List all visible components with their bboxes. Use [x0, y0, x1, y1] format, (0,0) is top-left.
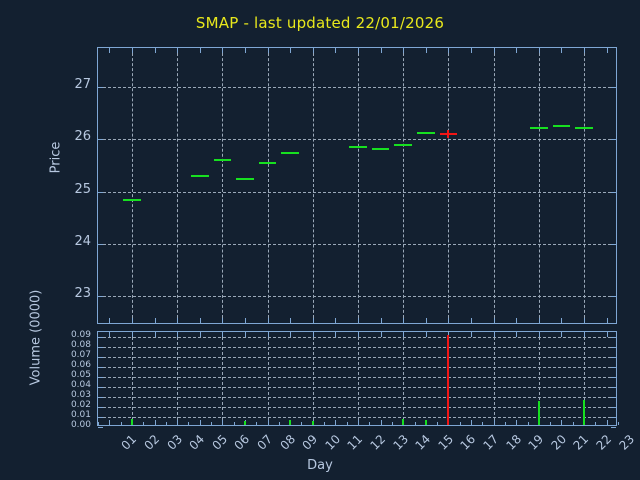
volume-gridline-v	[222, 332, 223, 425]
volume-gridline-v	[177, 332, 178, 425]
volume-tick-top	[539, 332, 540, 337]
volume-gridline-v	[358, 332, 359, 425]
volume-tick-minor	[460, 422, 461, 425]
volume-bar-15	[425, 420, 427, 425]
price-wick-16	[447, 130, 449, 138]
price-gridline-v	[403, 48, 404, 323]
volume-tick-minor	[347, 422, 348, 425]
volume-tick-left	[98, 407, 103, 408]
volume-tick-bot	[561, 420, 562, 425]
volume-bar-22	[583, 400, 585, 425]
day-tick-label: 17	[481, 432, 502, 453]
price-gridline-h	[98, 87, 616, 88]
price-tick-top	[200, 48, 201, 53]
day-tick-label: 10	[322, 432, 343, 453]
day-tick-label: 12	[367, 432, 388, 453]
price-tick-top	[268, 48, 269, 53]
price-tick-bot	[222, 318, 223, 323]
volume-tick-top	[290, 332, 291, 337]
volume-tick-left	[98, 397, 103, 398]
price-tick-top	[335, 48, 336, 53]
volume-tick-minor	[550, 422, 551, 425]
volume-tick-left	[98, 377, 103, 378]
volume-gridline-h	[98, 367, 616, 368]
volume-tick-minor	[595, 422, 596, 425]
price-tick-top	[403, 48, 404, 53]
volume-tick-top	[268, 332, 269, 337]
price-bar-13	[372, 148, 390, 150]
volume-tick-top	[177, 332, 178, 337]
price-tick-bot	[290, 318, 291, 323]
volume-tick-top	[561, 332, 562, 337]
price-bar-06	[214, 159, 232, 161]
volume-tick-minor	[166, 422, 167, 425]
volume-tick-right	[611, 367, 616, 368]
price-gridline-v	[132, 48, 133, 323]
volume-tick-top	[494, 332, 495, 337]
volume-tick-top	[358, 332, 359, 337]
price-bar-09	[281, 152, 299, 154]
price-gridline-v	[539, 48, 540, 323]
price-bar-02	[123, 199, 141, 201]
volume-tick-minor	[415, 422, 416, 425]
volume-tick-minor	[505, 422, 506, 425]
volume-gridline-h	[98, 357, 616, 358]
volume-tick-minor	[437, 422, 438, 425]
day-tick-label: 03	[164, 432, 185, 453]
volume-tick-right	[611, 407, 616, 408]
volume-tick-label: 0.09	[41, 330, 91, 340]
volume-gridline-v	[403, 332, 404, 425]
day-tick-label: 21	[571, 432, 592, 453]
volume-gridline-h	[98, 337, 616, 338]
volume-tick-bot	[381, 420, 382, 425]
volume-gridline-v	[494, 332, 495, 425]
price-bar-15	[417, 132, 435, 134]
price-tick-left	[98, 192, 103, 193]
day-tick-label: 15	[435, 432, 456, 453]
volume-tick-label: 0.07	[41, 350, 91, 360]
price-tick-bot	[200, 318, 201, 323]
price-gridline-v	[177, 48, 178, 323]
price-gridline-v	[268, 48, 269, 323]
day-tick-label: 11	[345, 432, 366, 453]
volume-tick-minor	[528, 422, 529, 425]
volume-tick-top	[200, 332, 201, 337]
volume-tick-top	[584, 332, 585, 337]
price-tick-bot	[358, 318, 359, 323]
price-tick-right	[611, 192, 616, 193]
day-tick-label: 22	[594, 432, 615, 453]
day-tick-label: 20	[548, 432, 569, 453]
price-tick-left	[98, 244, 103, 245]
price-tick-top	[222, 48, 223, 53]
day-tick-label: 06	[232, 432, 253, 453]
volume-tick-right	[611, 427, 616, 428]
volume-tick-bot	[177, 420, 178, 425]
price-gridline-v	[448, 48, 449, 323]
volume-gridline-h	[98, 397, 616, 398]
volume-tick-top	[313, 332, 314, 337]
day-tick-label: 02	[141, 432, 162, 453]
chart-canvas: SMAP - last updated 22/01/2026 Price Vol…	[0, 0, 640, 480]
volume-bar-09	[289, 420, 291, 425]
day-tick-label: 09	[300, 432, 321, 453]
price-tick-top	[381, 48, 382, 53]
day-tick-label: 13	[390, 432, 411, 453]
volume-tick-bot	[109, 420, 110, 425]
price-bar-22	[575, 127, 593, 129]
day-tick-label: 05	[209, 432, 230, 453]
volume-tick-label: 0.02	[41, 400, 91, 410]
price-gridline-h	[98, 296, 616, 297]
chart-title: SMAP - last updated 22/01/2026	[0, 14, 640, 32]
volume-tick-minor	[211, 422, 212, 425]
volume-tick-bot	[358, 420, 359, 425]
price-bar-08	[259, 162, 277, 164]
volume-bar-16	[447, 335, 449, 425]
volume-tick-label: 0.08	[41, 340, 91, 350]
price-gridline-h	[98, 244, 616, 245]
volume-tick-right	[611, 397, 616, 398]
x-axis-title: Day	[0, 458, 640, 473]
day-tick-label: 08	[277, 432, 298, 453]
price-tick-bot	[539, 318, 540, 323]
volume-tick-top	[607, 332, 608, 337]
day-tick-label: 01	[119, 432, 140, 453]
volume-tick-minor	[234, 422, 235, 425]
volume-tick-minor	[324, 422, 325, 425]
price-tick-bot	[584, 318, 585, 323]
volume-tick-left	[98, 337, 103, 338]
price-tick-top	[426, 48, 427, 53]
volume-tick-right	[611, 377, 616, 378]
day-tick-label: 23	[616, 432, 637, 453]
price-bar-05	[191, 175, 209, 177]
volume-tick-bot	[222, 420, 223, 425]
volume-tick-left	[98, 367, 103, 368]
price-tick-bot	[494, 318, 495, 323]
price-tick-bot	[403, 318, 404, 323]
volume-tick-bot	[607, 420, 608, 425]
volume-tick-top	[471, 332, 472, 337]
price-bar-21	[553, 125, 571, 127]
volume-tick-minor	[256, 422, 257, 425]
volume-tick-label: 0.05	[41, 370, 91, 380]
price-tick-right	[611, 87, 616, 88]
volume-gridline-v	[132, 332, 133, 425]
price-tick-bot	[516, 318, 517, 323]
volume-tick-right	[611, 387, 616, 388]
price-tick-label: 27	[45, 77, 91, 92]
price-gridline-v	[222, 48, 223, 323]
price-tick-bot	[335, 318, 336, 323]
volume-tick-minor	[618, 422, 619, 425]
volume-gridline-h	[98, 387, 616, 388]
volume-tick-bot	[516, 420, 517, 425]
price-tick-top	[494, 48, 495, 53]
price-tick-bot	[132, 318, 133, 323]
volume-bar-10	[312, 421, 314, 425]
price-tick-bot	[109, 318, 110, 323]
volume-gridline-v	[313, 332, 314, 425]
volume-tick-left	[98, 427, 103, 428]
volume-tick-top	[155, 332, 156, 337]
price-tick-bot	[561, 318, 562, 323]
price-tick-top	[155, 48, 156, 53]
volume-tick-top	[426, 332, 427, 337]
price-tick-right	[611, 296, 616, 297]
volume-tick-right	[611, 357, 616, 358]
volume-tick-top	[245, 332, 246, 337]
price-tick-bot	[313, 318, 314, 323]
volume-tick-label: 0.00	[41, 420, 91, 430]
volume-gridline-h	[98, 377, 616, 378]
volume-tick-top	[132, 332, 133, 337]
day-tick-label: 19	[526, 432, 547, 453]
price-bar-20	[530, 127, 548, 129]
price-tick-left	[98, 296, 103, 297]
price-tick-bot	[245, 318, 246, 323]
volume-tick-minor	[188, 422, 189, 425]
price-gridline-h	[98, 139, 616, 140]
price-tick-label: 23	[45, 286, 91, 301]
volume-tick-left	[98, 357, 103, 358]
price-tick-label: 25	[45, 182, 91, 197]
price-tick-right	[611, 244, 616, 245]
volume-tick-top	[222, 332, 223, 337]
day-tick-label: 18	[503, 432, 524, 453]
price-tick-bot	[177, 318, 178, 323]
volume-tick-bot	[471, 420, 472, 425]
volume-gridline-v	[268, 332, 269, 425]
volume-tick-label: 0.06	[41, 360, 91, 370]
volume-tick-bot	[268, 420, 269, 425]
price-tick-top	[471, 48, 472, 53]
price-tick-bot	[471, 318, 472, 323]
volume-tick-minor	[143, 422, 144, 425]
price-gridline-v	[494, 48, 495, 323]
price-tick-bot	[607, 318, 608, 323]
price-tick-bot	[426, 318, 427, 323]
price-gridline-v	[358, 48, 359, 323]
volume-plot-area	[97, 331, 617, 426]
price-tick-top	[290, 48, 291, 53]
price-tick-top	[132, 48, 133, 53]
price-tick-top	[358, 48, 359, 53]
day-tick-label: 04	[187, 432, 208, 453]
volume-tick-top	[335, 332, 336, 337]
volume-bar-02	[131, 419, 133, 425]
volume-tick-right	[611, 337, 616, 338]
price-tick-top	[539, 48, 540, 53]
volume-bar-20	[538, 401, 540, 425]
price-bar-14	[394, 144, 412, 146]
volume-tick-top	[403, 332, 404, 337]
volume-tick-bot	[200, 420, 201, 425]
price-tick-bot	[448, 318, 449, 323]
volume-tick-label: 0.01	[41, 410, 91, 420]
volume-bar-07	[244, 421, 246, 425]
volume-tick-minor	[369, 422, 370, 425]
price-tick-label: 24	[45, 234, 91, 249]
price-tick-top	[109, 48, 110, 53]
volume-tick-right	[611, 347, 616, 348]
volume-bar-14	[402, 419, 404, 425]
volume-tick-minor	[279, 422, 280, 425]
volume-tick-left	[98, 347, 103, 348]
price-bar-12	[349, 146, 367, 148]
volume-gridline-h	[98, 347, 616, 348]
price-tick-top	[561, 48, 562, 53]
volume-tick-minor	[573, 422, 574, 425]
price-tick-top	[245, 48, 246, 53]
price-plot-area	[97, 47, 617, 324]
price-axis-title: Price	[49, 98, 64, 218]
day-tick-label: 07	[254, 432, 275, 453]
price-tick-bot	[268, 318, 269, 323]
price-tick-top	[516, 48, 517, 53]
price-bar-07	[236, 178, 254, 180]
volume-tick-minor	[392, 422, 393, 425]
price-tick-top	[607, 48, 608, 53]
price-tick-left	[98, 87, 103, 88]
price-tick-bot	[155, 318, 156, 323]
price-tick-left	[98, 139, 103, 140]
volume-tick-top	[516, 332, 517, 337]
price-tick-right	[611, 139, 616, 140]
volume-tick-minor	[98, 422, 99, 425]
price-tick-label: 26	[45, 129, 91, 144]
price-tick-bot	[381, 318, 382, 323]
price-gridline-h	[98, 192, 616, 193]
volume-tick-minor	[482, 422, 483, 425]
volume-tick-bot	[494, 420, 495, 425]
volume-tick-top	[381, 332, 382, 337]
day-tick-label: 16	[458, 432, 479, 453]
price-tick-top	[448, 48, 449, 53]
day-tick-label: 14	[413, 432, 434, 453]
volume-tick-minor	[121, 422, 122, 425]
volume-tick-bot	[335, 420, 336, 425]
volume-tick-label: 0.03	[41, 390, 91, 400]
volume-tick-left	[98, 417, 103, 418]
volume-tick-minor	[301, 422, 302, 425]
price-tick-top	[177, 48, 178, 53]
price-tick-top	[584, 48, 585, 53]
price-gridline-v	[313, 48, 314, 323]
volume-tick-right	[611, 417, 616, 418]
volume-tick-top	[109, 332, 110, 337]
volume-tick-bot	[155, 420, 156, 425]
volume-tick-label: 0.04	[41, 380, 91, 390]
volume-tick-left	[98, 387, 103, 388]
price-tick-top	[313, 48, 314, 53]
price-gridline-v	[584, 48, 585, 323]
